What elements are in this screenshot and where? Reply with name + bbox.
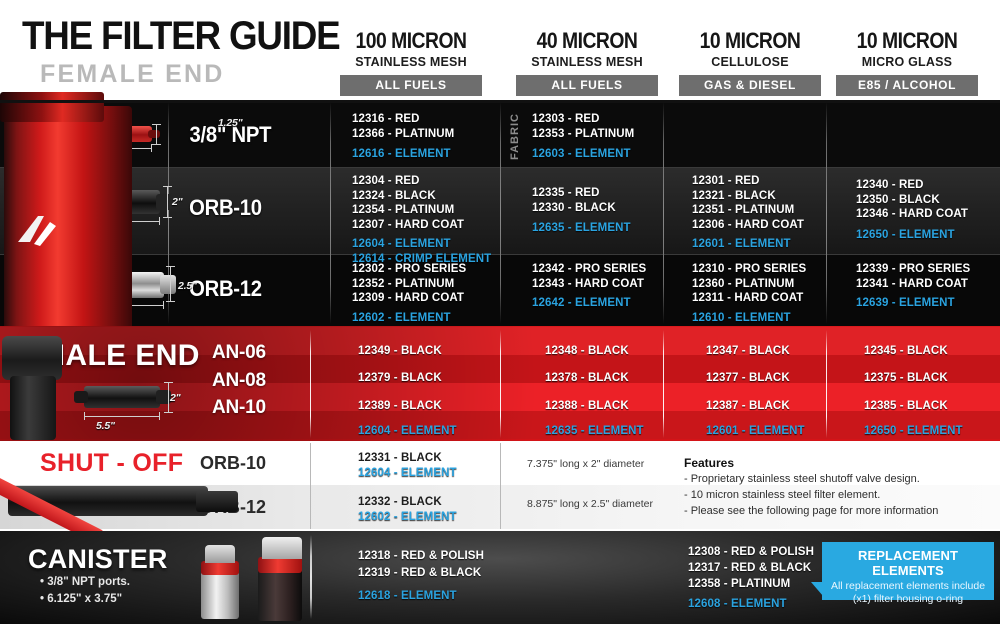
male-diameter-dim: 2" [170, 392, 180, 404]
callout-tail [811, 582, 823, 596]
shutoff-dimension-orb10: 7.375" long x 2" diameter [527, 458, 644, 470]
part-number: 12330 - BLACK [532, 201, 631, 216]
column-fuel-badge: GAS & DIESEL [679, 75, 821, 96]
size-label-an06: AN-06 [212, 342, 266, 364]
part-number-element: 12639 - ELEMENT [856, 296, 970, 311]
column-divider [310, 443, 311, 529]
column-divider [500, 443, 501, 529]
replacement-elements-callout: REPLACEMENT ELEMENTS All replacement ele… [822, 542, 994, 600]
part-number-element: 12603 - ELEMENT [532, 147, 634, 162]
column-fuel-badge: ALL FUELS [516, 75, 658, 96]
feature-item: - Please see the following page for more… [684, 505, 938, 517]
part-number: 12366 - PLATINUM [352, 127, 454, 142]
cell-npt-100micron: 12316 - RED 12366 - PLATINUM 12616 - ELE… [352, 112, 454, 162]
column-divider [500, 330, 501, 438]
canister-title: CANISTER [28, 544, 168, 575]
column-divider [310, 535, 312, 619]
column-header-10-micron-micro-glass: 10 MICRON MICRO GLASS E85 / ALCOHOL [822, 28, 992, 96]
section-top-rule [0, 100, 1000, 103]
column-fuel-badge: E85 / ALCOHOL [836, 75, 978, 96]
column-media-label: CELLULOSE [665, 55, 835, 69]
column-divider [663, 330, 664, 438]
part-number-element: 12618 - ELEMENT [358, 589, 457, 604]
an-fitting-product-image [0, 330, 120, 442]
part-number: 12301 - RED [692, 174, 804, 189]
cell-npt-40micron: 12303 - RED 12353 - PLATINUM 12603 - ELE… [532, 112, 634, 162]
features-title: Features [684, 456, 734, 470]
part-number: 12339 - PRO SERIES [856, 262, 970, 277]
cell-orb12-10micron-microglass: 12339 - PRO SERIES 12341 - HARD COAT 126… [856, 262, 970, 311]
column-micron-label: 100 MICRON [336, 28, 486, 54]
callout-body: All replacement elements include (x1) fi… [822, 580, 994, 605]
part-number: 12388 - BLACK [545, 399, 629, 414]
part-number: 12353 - PLATINUM [532, 127, 634, 142]
cell-orb10-10micron-cellulose: 12301 - RED 12321 - BLACK 12351 - PLATIN… [692, 174, 804, 252]
canister-polish-image [193, 543, 247, 621]
part-number-element: 12602 - ELEMENT [352, 311, 466, 326]
part-number: 12307 - HARD COAT [352, 218, 491, 233]
part-number: 12318 - RED & POLISH [358, 549, 484, 564]
shutoff-valve-product-image [0, 470, 250, 530]
part-number: 12310 - PRO SERIES [692, 262, 806, 277]
page-subtitle: FEMALE END [40, 60, 225, 89]
canister-bullet: • 6.125" x 3.75" [40, 593, 122, 605]
callout-title: REPLACEMENT ELEMENTS [822, 548, 994, 578]
part-number: 12346 - HARD COAT [856, 207, 968, 222]
part-number: 12378 - BLACK [545, 371, 629, 386]
part-number: 12352 - PLATINUM [352, 277, 466, 292]
canister-black-image [250, 537, 312, 623]
part-number: 12358 - PLATINUM [688, 577, 790, 592]
column-header-100-micron: 100 MICRON STAINLESS MESH ALL FUELS [326, 28, 496, 96]
column-fuel-badge: ALL FUELS [340, 75, 482, 96]
part-number: 12304 - RED [352, 174, 491, 189]
part-number: 12306 - HARD COAT [692, 218, 804, 233]
column-divider [500, 102, 501, 324]
column-micron-label: 10 MICRON [675, 28, 825, 54]
part-number: 12340 - RED [856, 178, 968, 193]
part-number-element: 12604 - ELEMENT [358, 424, 457, 439]
part-number: 12311 - HARD COAT [692, 291, 806, 306]
part-number-element: 12604 - ELEMENT [352, 237, 491, 252]
part-number: 12324 - BLACK [352, 189, 491, 204]
part-number-element: 12616 - ELEMENT [352, 147, 454, 162]
part-number-element: 12601 - ELEMENT [706, 424, 805, 439]
feature-item: - 10 micron stainless steel filter eleme… [684, 489, 880, 501]
part-number: 12347 - BLACK [706, 344, 790, 359]
part-number: 12349 - BLACK [358, 344, 442, 359]
part-number: 12308 - RED & POLISH [688, 545, 814, 560]
size-label-an10: AN-10 [212, 397, 266, 419]
female-end-section: 3/8" NPT ORB-10 ORB-12 3.5" 1.25" [0, 100, 1000, 326]
part-number: 12309 - HARD COAT [352, 291, 466, 306]
row-label-orb12: ORB-12 [189, 276, 262, 302]
part-number: 12332 - BLACK [358, 495, 442, 510]
part-number: 12342 - PRO SERIES [532, 262, 646, 277]
column-media-label: STAINLESS MESH [502, 55, 672, 69]
male-end-section: MALE END AN-06 AN-08 AN-10 5.5" 2" 12349… [0, 326, 1000, 441]
part-number: 12354 - PLATINUM [352, 203, 491, 218]
cell-orb12-100micron: 12302 - PRO SERIES 12352 - PLATINUM 1230… [352, 262, 466, 325]
part-number: 12350 - BLACK [856, 193, 968, 208]
cell-orb12-40micron: 12342 - PRO SERIES 12343 - HARD COAT 126… [532, 262, 646, 311]
fabric-side-tag: FABRIC [509, 112, 521, 160]
part-number: 12343 - HARD COAT [532, 277, 646, 292]
aeromotive-logo-icon [14, 212, 58, 252]
feature-item: - Proprietary stainless steel shutoff va… [684, 473, 920, 485]
page-title: THE FILTER GUIDE [22, 14, 340, 59]
part-number: 12345 - BLACK [864, 344, 948, 359]
part-number-element: 12604 - ELEMENT [358, 466, 457, 481]
part-number-element: 12650 - ELEMENT [864, 424, 963, 439]
orb12-diameter-dim: 2.5" [178, 280, 197, 292]
part-number: 12317 - RED & BLACK [688, 561, 811, 576]
part-number: 12331 - BLACK [358, 451, 442, 466]
part-number-element: 12642 - ELEMENT [532, 296, 646, 311]
column-divider [663, 102, 664, 324]
cell-orb10-40micron: 12335 - RED 12330 - BLACK 12635 - ELEMEN… [532, 186, 631, 236]
column-header-10-micron-cellulose: 10 MICRON CELLULOSE GAS & DIESEL [665, 28, 835, 96]
part-number: 12389 - BLACK [358, 399, 442, 414]
part-number-element: 12601 - ELEMENT [692, 237, 804, 252]
column-media-label: MICRO GLASS [822, 55, 992, 69]
part-number: 12319 - RED & BLACK [358, 566, 481, 581]
part-number: 12351 - PLATINUM [692, 203, 804, 218]
part-number-element: 12608 - ELEMENT [688, 597, 787, 612]
part-number-element: 12635 - ELEMENT [545, 424, 644, 439]
part-number-element: 12650 - ELEMENT [856, 228, 968, 243]
canister-bullet: • 3/8" NPT ports. [40, 576, 130, 588]
column-divider [826, 102, 827, 324]
cell-orb10-100micron: 12304 - RED 12324 - BLACK 12354 - PLATIN… [352, 174, 491, 267]
part-number: 12321 - BLACK [692, 189, 804, 204]
cell-orb12-10micron-cellulose: 12310 - PRO SERIES 12360 - PLATINUM 1231… [692, 262, 806, 325]
column-micron-label: 40 MICRON [512, 28, 662, 54]
part-number: 12303 - RED [532, 112, 634, 127]
part-number: 12375 - BLACK [864, 371, 948, 386]
part-number: 12316 - RED [352, 112, 454, 127]
column-divider [310, 330, 311, 438]
size-label-an08: AN-08 [212, 370, 266, 392]
part-number: 12377 - BLACK [706, 371, 790, 386]
red-filter-product-image [0, 92, 150, 330]
part-number: 12348 - BLACK [545, 344, 629, 359]
column-divider [826, 330, 827, 438]
part-number: 12341 - HARD COAT [856, 277, 970, 292]
part-number-element: 12610 - ELEMENT [692, 311, 806, 326]
column-media-label: STAINLESS MESH [326, 55, 496, 69]
cell-orb10-10micron-microglass: 12340 - RED 12350 - BLACK 12346 - HARD C… [856, 178, 968, 242]
npt-diameter-dim: 1.25" [218, 117, 242, 129]
part-number-element: 12602 - ELEMENT [358, 510, 457, 525]
part-number: 12335 - RED [532, 186, 631, 201]
part-number: 12385 - BLACK [864, 399, 948, 414]
part-number-element: 12635 - ELEMENT [532, 221, 631, 236]
orb10-diameter-dim: 2" [172, 196, 182, 208]
column-micron-label: 10 MICRON [832, 28, 982, 54]
part-number: 12387 - BLACK [706, 399, 790, 414]
column-header-40-micron: 40 MICRON STAINLESS MESH ALL FUELS [502, 28, 672, 96]
row-label-orb10: ORB-10 [189, 195, 262, 221]
shutoff-dimension-orb12: 8.875" long x 2.5" diameter [527, 498, 653, 510]
column-divider [330, 102, 331, 324]
part-number: 12360 - PLATINUM [692, 277, 806, 292]
filter-guide-page: THE FILTER GUIDE FEMALE END 100 MICRON S… [0, 0, 1000, 624]
part-number: 12379 - BLACK [358, 371, 442, 386]
part-number: 12302 - PRO SERIES [352, 262, 466, 277]
